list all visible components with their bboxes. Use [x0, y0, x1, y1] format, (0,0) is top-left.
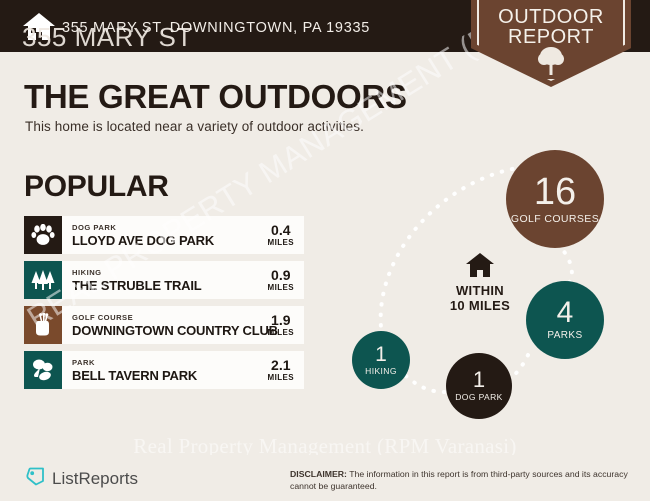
list-item-distance-value: 2.1 [268, 358, 294, 373]
diagram-center-node: WITHIN 10 MILES [430, 252, 530, 313]
list-item-category: DOG PARK [72, 223, 268, 233]
diagram-node-parks: 4 PARKS [526, 281, 604, 359]
diagram-node-count: 16 [534, 173, 576, 211]
diagram-center-line-1: WITHIN [430, 283, 530, 298]
diagram-node-label: PARKS [547, 331, 582, 342]
popular-list: DOG PARK LLOYD AVE DOG PARK 0.4 MILES HI… [24, 216, 304, 396]
list-item-name: THE STRUBLE TRAIL [72, 278, 268, 293]
list-item-text: HIKING THE STRUBLE TRAIL [62, 268, 268, 293]
list-item-text: DOG PARK LLOYD AVE DOG PARK [62, 223, 268, 248]
park-tree-icon [24, 351, 62, 389]
diagram-node-count: 1 [375, 344, 387, 365]
tree-icon [536, 44, 566, 76]
list-item-text: GOLF COURSE DOWNINGTOWN COUNTRY CLUB [62, 313, 268, 338]
paw-icon [24, 216, 62, 254]
trees-icon [24, 261, 62, 299]
list-item-distance-unit: MILES [268, 283, 294, 293]
list-item-distance-unit: MILES [268, 238, 294, 248]
listreports-logo[interactable]: ListReports [26, 467, 138, 491]
list-item[interactable]: PARK BELL TAVERN PARK 2.1 MILES [24, 351, 304, 389]
diagram-node-count: 1 [473, 369, 485, 391]
outdoor-report-badge: OUTDOOR REPORT [471, 0, 631, 87]
diagram-center-line-2: 10 MILES [430, 298, 530, 313]
diagram-node-label: HIKING [365, 367, 397, 376]
outdoor-report-page: 355 MARY ST 355 MARY ST, DOWNINGTOWN, PA… [0, 0, 650, 501]
list-item-distance: 1.9 MILES [268, 313, 304, 338]
home-icon [430, 252, 530, 278]
diagram-node-golf-courses: 16 GOLF COURSES [506, 150, 604, 248]
list-item-distance-unit: MILES [268, 328, 294, 338]
section-heading-popular: POPULAR [24, 170, 169, 204]
listreports-tag-icon [26, 467, 45, 491]
page-subtitle: This home is located near a variety of o… [25, 119, 364, 134]
disclaimer: DISCLAIMER: The information in this repo… [290, 469, 640, 492]
list-item[interactable]: HIKING THE STRUBLE TRAIL 0.9 MILES [24, 261, 304, 299]
list-item[interactable]: DOG PARK LLOYD AVE DOG PARK 0.4 MILES [24, 216, 304, 254]
list-item[interactable]: GOLF COURSE DOWNINGTOWN COUNTRY CLUB 1.9… [24, 306, 304, 344]
diagram-node-hiking: 1 HIKING [352, 331, 410, 389]
list-item-distance-value: 1.9 [268, 313, 294, 328]
diagram-node-dog-park: 1 DOG PARK [446, 353, 512, 419]
list-item-name: BELL TAVERN PARK [72, 368, 268, 383]
list-item-category: PARK [72, 358, 268, 368]
footer-bar: ListReports DISCLAIMER: The information … [0, 455, 650, 501]
list-item-distance: 0.4 MILES [268, 223, 304, 248]
diagram-node-count: 4 [557, 298, 574, 328]
list-item-text: PARK BELL TAVERN PARK [62, 358, 268, 383]
list-item-distance: 0.9 MILES [268, 268, 304, 293]
list-item-category: GOLF COURSE [72, 313, 268, 323]
diagram-node-label: DOG PARK [455, 393, 502, 402]
listreports-logo-text: ListReports [52, 469, 138, 489]
list-item-name: LLOYD AVE DOG PARK [72, 233, 268, 248]
within-10-miles-diagram: WITHIN 10 MILES 16 GOLF COURSES 4 PARKS … [330, 140, 630, 430]
list-item-distance: 2.1 MILES [268, 358, 304, 383]
list-item-distance-value: 0.4 [268, 223, 294, 238]
diagram-node-label: GOLF COURSES [511, 214, 599, 225]
list-item-category: HIKING [72, 268, 268, 278]
list-item-distance-value: 0.9 [268, 268, 294, 283]
page-title: THE GREAT OUTDOORS [24, 78, 407, 116]
disclaimer-label: DISCLAIMER: [290, 469, 347, 479]
header-address: 355 MARY ST, DOWNINGTOWN, PA 19335 [62, 20, 370, 36]
golf-bag-icon [24, 306, 62, 344]
list-item-distance-unit: MILES [268, 373, 294, 383]
list-item-name: DOWNINGTOWN COUNTRY CLUB [72, 323, 268, 338]
